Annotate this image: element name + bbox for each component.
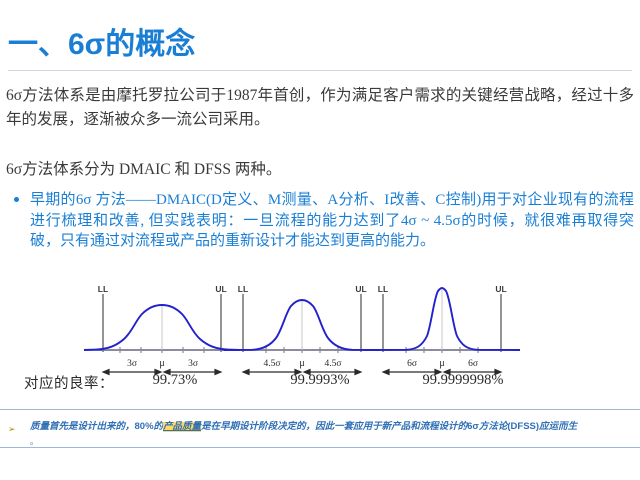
title-divider	[8, 70, 632, 71]
footnote-part6: 方法论	[479, 422, 508, 432]
mean-label: μ	[299, 358, 304, 369]
yield-row-label: 对应的良率：	[24, 372, 114, 393]
title-text: 一、6σ的概念	[8, 28, 632, 62]
chart-row: LL UL μ 3σ 3σ	[0, 286, 640, 378]
footer-divider-top	[0, 409, 640, 410]
chart-6sigma-svg: LL UL μ 6σ 6σ	[362, 286, 522, 378]
left-span-label: 4.5σ	[264, 359, 281, 369]
footnote-part4: 是在早期设计阶段决定的，因此一套应用于新产品和流程设计的	[201, 422, 467, 432]
chart-6sigma: LL UL μ 6σ 6σ	[362, 286, 522, 378]
footnote-part8: 应运而生	[539, 422, 577, 432]
footnote-dfss: (DFSS)	[507, 421, 539, 432]
paragraph-intro: 6σ方法体系是由摩托罗拉公司于1987年首创，作为满足客户需求的关键经营战略，经…	[6, 84, 634, 132]
title-prefix: 一、	[8, 28, 68, 61]
chart-3sigma-svg: LL UL μ 3σ 3σ	[82, 286, 242, 378]
mean-label: μ	[439, 358, 444, 369]
bullet-dot-icon	[14, 197, 19, 202]
yield-value-6sigma: 99.9999998%	[388, 372, 538, 389]
right-span-label: 3σ	[188, 359, 198, 369]
slide-canvas: 一、6σ的概念 6σ方法体系是由摩托罗拉公司于1987年首创，作为满足客户需求的…	[0, 0, 640, 480]
footnote-text: 质量首先是设计出来的，80%的产品质量是在早期设计阶段决定的，因此一套应用于新产…	[8, 420, 636, 434]
left-span-label: 3σ	[127, 359, 137, 369]
yield-value-3sigma: 99.73%	[120, 372, 230, 389]
chart-4p5sigma: LL UL μ 4.5σ 4.5σ	[222, 286, 382, 378]
footnote-body: 质量首先是设计出来的，80%的产品质量是在早期设计阶段决定的，因此一套应用于新产…	[30, 420, 577, 434]
footnote-sigma: 6σ	[467, 421, 479, 432]
footnote-percent: 80%	[135, 421, 154, 432]
lower-limit-label: LL	[378, 286, 388, 294]
title-suffix: 的概念	[105, 28, 195, 61]
footnote-part3: 的	[154, 422, 164, 432]
lower-limit-label: LL	[98, 286, 108, 294]
right-span-label: 6σ	[468, 359, 478, 369]
bullet-item-label: 早期的6σ 方法——DMAIC(D定义、M测量、A分析、I改善、C控制)用于对企…	[30, 190, 634, 252]
paragraph-methods: 6σ方法体系分为 DMAIC 和 DFSS 两种。	[6, 158, 634, 182]
footnote-part1: 质量首先是设计出来的，	[30, 422, 135, 432]
chart-4p5sigma-svg: LL UL μ 4.5σ 4.5σ	[222, 286, 382, 378]
bullet-item-dmaic: 早期的6σ 方法——DMAIC(D定义、M测量、A分析、I改善、C控制)用于对企…	[14, 190, 634, 252]
page-title: 一、6σ的概念	[8, 28, 632, 62]
left-span-label: 6σ	[407, 359, 417, 369]
footnote-highlight: 产品质量	[163, 422, 201, 432]
yield-value-4p5sigma: 99.9993%	[255, 372, 385, 389]
right-span-label: 4.5σ	[325, 359, 342, 369]
lower-limit-label: LL	[238, 286, 248, 294]
mean-label: μ	[159, 358, 164, 369]
title-number: 6σ	[68, 28, 105, 61]
footnote-tail: 。	[30, 436, 38, 447]
upper-limit-label: UL	[495, 286, 506, 294]
footer-divider-bottom	[0, 447, 640, 448]
chart-3sigma: LL UL μ 3σ 3σ	[82, 286, 242, 378]
